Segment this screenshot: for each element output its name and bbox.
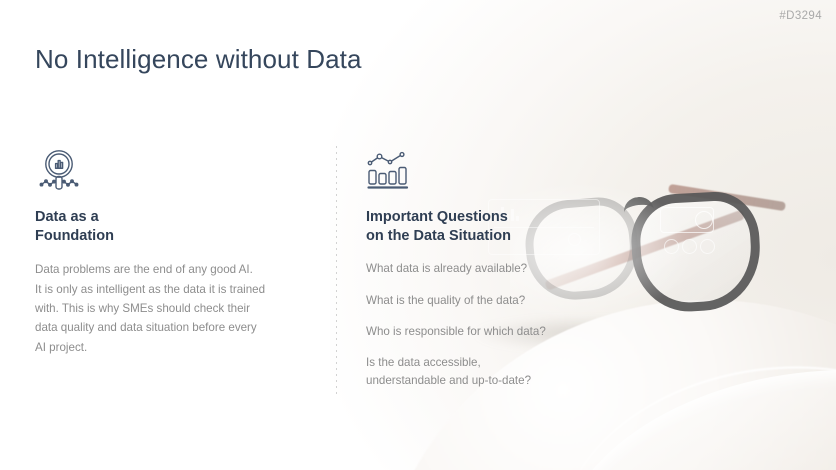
hud-dial-right [695,211,713,229]
column-important-questions: Important Questions on the Data Situatio… [366,148,656,389]
hud-icon-button-3 [700,239,715,254]
list-item: What is the quality of the data? [366,292,656,309]
slide: #D3294 No Intelligence without Data [0,0,836,470]
questions-list: What data is already available? What is … [366,260,656,389]
list-item: What data is already available? [366,260,656,277]
column-data-foundation: Data as a Foundation Data problems are t… [35,148,325,369]
slide-reference-code: #D3294 [779,10,822,22]
column-body-text: Data problems are the end of any good AI… [35,260,325,357]
column-divider [336,146,337,396]
hud-icon-button-1 [664,239,679,254]
list-item: Who is responsible for which data? [366,323,656,340]
hud-panel-right [660,207,714,233]
line-bar-chart-icon [366,148,656,192]
hud-icon-button-2 [682,239,697,254]
list-item: Is the data accessible, understandable a… [366,354,656,389]
eyeglasses-temple-arm-far [668,184,786,211]
magnifier-bar-chart-icon [35,148,325,192]
column-heading: Important Questions on the Data Situatio… [366,208,656,246]
column-heading: Data as a Foundation [35,208,325,246]
page-title: No Intelligence without Data [35,44,362,75]
